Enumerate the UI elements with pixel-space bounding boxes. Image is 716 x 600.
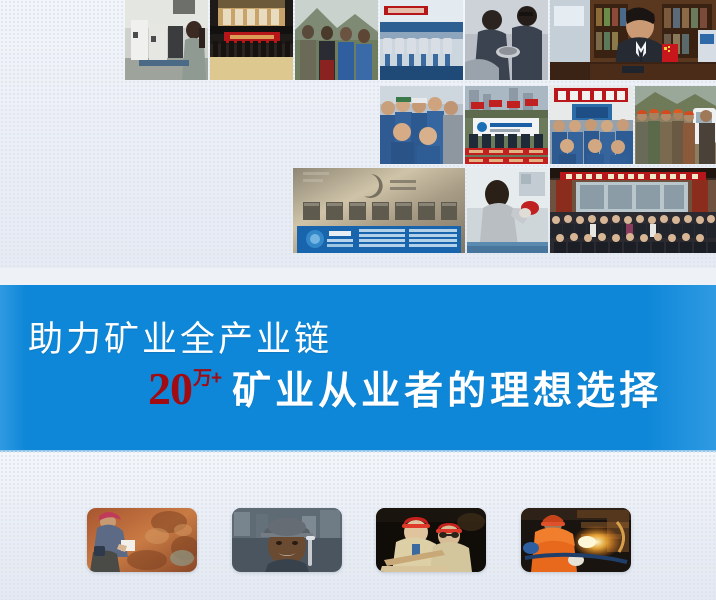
photo-tianzhou-banner-ceremony[interactable] [465, 86, 548, 164]
card-geologist-field-survey[interactable] [87, 508, 197, 572]
photo-lab-technician-microscope[interactable] [125, 0, 208, 80]
slogan-line-2: 20 万+ 矿业从业者的理想选择 [148, 360, 662, 416]
photo-female-worker-sampling[interactable] [467, 168, 548, 253]
photo-helmet-crew-van-outdoor[interactable] [635, 86, 716, 164]
photo-jiuweigou-gold-mine-team[interactable] [550, 86, 633, 164]
slogan-line-1: 助力矿业全产业链 [28, 311, 332, 362]
photo-mine-workers-group-blue[interactable] [380, 86, 463, 164]
card-underground-drillers-pair[interactable] [376, 508, 486, 572]
card-smelter-furnace-worker[interactable] [521, 508, 631, 572]
section-divider [0, 450, 716, 452]
photo-field-crew-mountain[interactable] [295, 0, 378, 80]
banner-left-highlight [0, 285, 26, 450]
user-count-unit: 万+ [193, 363, 221, 390]
card-miner-portrait-helmet[interactable] [232, 508, 342, 572]
user-count-number: 20 [148, 366, 192, 412]
photo-chairman-office-portrait[interactable] [550, 0, 716, 80]
photo-flotation-lab-equipment[interactable] [380, 0, 463, 80]
photo-annual-conference-stage[interactable] [210, 0, 293, 80]
photo-2017-mining-expo-groupshot[interactable] [550, 168, 716, 253]
photo-two-engineers-sampling[interactable] [465, 0, 548, 80]
photo-tianzhou-group-signboard[interactable] [293, 168, 465, 253]
company-photo-collage [0, 0, 716, 268]
slogan-line-2-text: 矿业从业者的理想选择 [232, 360, 662, 416]
slogan-banner: 助力矿业全产业链 20 万+ 矿业从业者的理想选择 [0, 285, 716, 450]
